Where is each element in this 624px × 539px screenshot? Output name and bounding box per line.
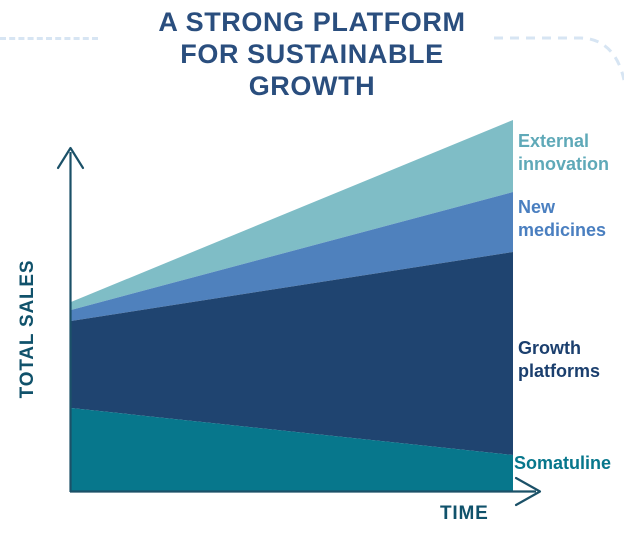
y-axis-label: TOTAL SALES [17, 249, 39, 409]
series-label-external-innovation-line-2: innovation [518, 153, 609, 176]
slide-canvas: A STRONG PLATFORM FOR SUSTAINABLE GROWTH [0, 0, 624, 539]
chart-areas [71, 120, 513, 492]
series-label-new-medicines-line-1: New [518, 196, 606, 219]
series-label-growth-platforms: Growth platforms [518, 337, 600, 383]
series-label-new-medicines-line-2: medicines [518, 219, 606, 242]
series-label-somatuline-line-1: Somatuline [514, 452, 611, 475]
series-label-somatuline: Somatuline [514, 452, 611, 475]
series-label-growth-platforms-line-2: platforms [518, 360, 600, 383]
series-label-new-medicines: New medicines [518, 196, 606, 242]
series-label-growth-platforms-line-1: Growth [518, 337, 600, 360]
series-label-external-innovation: External innovation [518, 130, 609, 176]
series-label-external-innovation-line-1: External [518, 130, 609, 153]
x-axis-label: TIME [440, 503, 489, 525]
